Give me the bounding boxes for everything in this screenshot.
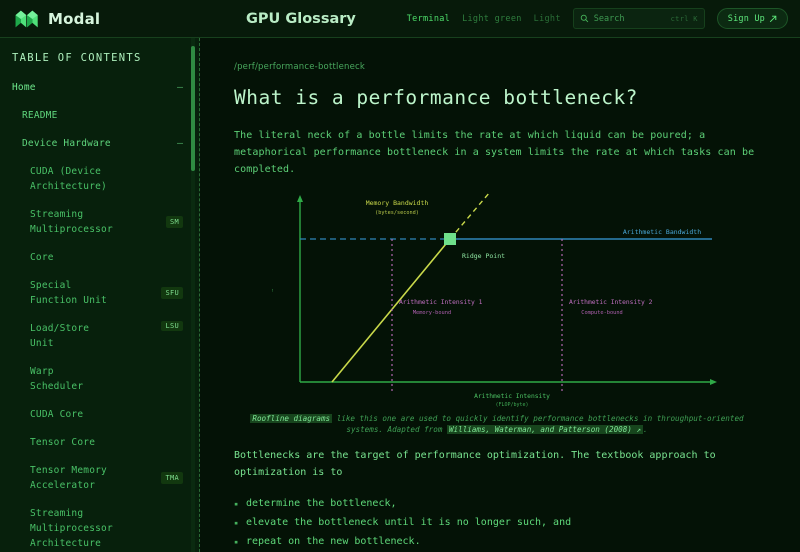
- x-axis-arrow: [710, 379, 717, 385]
- sidebar-item-label: CUDA Core: [0, 407, 83, 422]
- nav-link-light-green[interactable]: Light green: [462, 14, 522, 24]
- search-shortcut: ctrl K: [671, 15, 698, 23]
- caption-citation-link[interactable]: Williams, Waterman, and Patterson (2008)…: [447, 425, 643, 434]
- roofline-diagram: Memory Bandwidth (bytes/second) Arithmet…: [272, 192, 722, 407]
- intro-paragraph: The literal neck of a bottle limits the …: [234, 127, 760, 178]
- breadcrumb: /perf/performance-bottleneck: [234, 62, 760, 72]
- arrow-up-right-icon: [769, 15, 777, 23]
- arithmetic-bandwidth-label: Arithmetic Bandwidth: [623, 228, 701, 236]
- search-input[interactable]: Search ctrl K: [573, 8, 705, 29]
- sidebar-item-label: Home: [0, 80, 36, 95]
- nav-link-terminal[interactable]: Terminal: [407, 14, 450, 24]
- body-paragraph: Bottlenecks are the target of performanc…: [234, 447, 760, 481]
- sidebar-item-label: CUDA (Device Architecture): [0, 164, 108, 194]
- caption-highlight: Roofline diagrams: [250, 414, 332, 423]
- arithmetic-intensity-1-sublabel: Memory-bound: [413, 310, 451, 316]
- sign-up-button[interactable]: Sign Up: [717, 8, 788, 29]
- sidebar-item-streaming-multiprocessor[interactable]: Streaming Multiprocessor SM: [0, 205, 199, 239]
- sidebar-item-label: Warp Scheduler: [0, 364, 108, 394]
- sidebar-item-cuda-core[interactable]: CUDA Core: [0, 405, 199, 424]
- sidebar-item-label: Streaming Multiprocessor: [0, 207, 108, 237]
- memory-bandwidth-units: (bytes/second): [375, 210, 419, 216]
- sign-up-label: Sign Up: [728, 14, 765, 24]
- modal-logo-icon: [14, 9, 40, 29]
- roofline-figure: Memory Bandwidth (bytes/second) Arithmet…: [234, 192, 760, 435]
- collapse-toggle-icon[interactable]: –: [177, 80, 183, 95]
- sidebar-item-tensor-core[interactable]: Tensor Core: [0, 433, 199, 452]
- search-icon: [580, 14, 589, 23]
- main-content: /perf/performance-bottleneck What is a p…: [200, 38, 800, 552]
- search-placeholder: Search: [594, 14, 666, 24]
- optimization-steps-list: determine the bottleneck, elevate the bo…: [234, 494, 760, 551]
- site-title: GPU Glossary: [246, 11, 356, 27]
- collapse-toggle-icon[interactable]: –: [177, 136, 183, 151]
- header-nav: Terminal Light green Light Search ctrl K…: [407, 8, 788, 29]
- page-title: What is a performance bottleneck?: [234, 86, 760, 109]
- sidebar-badge-sm: SM: [166, 216, 183, 228]
- sidebar-item-warp-scheduler[interactable]: Warp Scheduler: [0, 362, 199, 396]
- sidebar-item-device-hardware[interactable]: Device Hardware –: [0, 134, 199, 153]
- list-item: elevate the bottleneck until it is no lo…: [234, 513, 760, 532]
- sidebar-title: TABLE OF CONTENTS: [12, 52, 199, 64]
- sidebar-item-load-store-unit[interactable]: Load/Store Unit LSU: [0, 319, 199, 353]
- nav-link-light[interactable]: Light: [534, 14, 561, 24]
- ridge-point-marker: [444, 233, 456, 245]
- sidebar-item-label: Load/Store Unit: [0, 321, 108, 351]
- sidebar-item-label: README: [0, 108, 58, 123]
- caption-text-2: .: [643, 425, 648, 434]
- sidebar-item-label: Device Hardware: [0, 136, 111, 151]
- arithmetic-intensity-2-label: Arithmetic Intensity 2: [569, 299, 653, 306]
- ridge-point-label: Ridge Point: [462, 252, 505, 260]
- arithmetic-intensity-1-label: Arithmetic Intensity 1: [399, 299, 483, 306]
- figure-caption: Roofline diagrams like this one are used…: [234, 413, 760, 435]
- sidebar-item-label: Streaming Multiprocessor Architecture: [0, 506, 108, 551]
- list-item: repeat on the new bottleneck.: [234, 532, 760, 551]
- sidebar-item-readme[interactable]: README: [0, 106, 199, 125]
- y-axis-label: Performance: [272, 287, 273, 294]
- sidebar-item-core[interactable]: Core: [0, 248, 199, 267]
- sidebar-item-tensor-memory-accelerator[interactable]: Tensor Memory Accelerator TMA: [0, 461, 199, 495]
- x-axis-label: Arithmetic Intensity: [474, 393, 550, 400]
- memory-bandwidth-extension: [450, 192, 490, 239]
- y-axis-units: (FLOPs/second): [272, 297, 273, 303]
- sidebar-item-label: Tensor Core: [0, 435, 95, 450]
- y-axis-arrow: [297, 195, 303, 202]
- sidebar-item-special-function-unit[interactable]: Special Function Unit SFU: [0, 276, 199, 310]
- sidebar-item-home[interactable]: Home –: [0, 78, 199, 97]
- sidebar: TABLE OF CONTENTS Home – README Device H…: [0, 38, 200, 552]
- list-item: determine the bottleneck,: [234, 494, 760, 513]
- brand[interactable]: Modal: [14, 9, 204, 29]
- sidebar-item-label: Special Function Unit: [0, 278, 108, 308]
- memory-bandwidth-label: Memory Bandwidth: [366, 199, 429, 207]
- sidebar-scrollbar-thumb[interactable]: [191, 46, 195, 171]
- sidebar-item-streaming-multiprocessor-architecture[interactable]: Streaming Multiprocessor Architecture: [0, 504, 199, 552]
- brand-name: Modal: [48, 10, 100, 28]
- top-header: Modal GPU Glossary Terminal Light green …: [0, 0, 800, 38]
- sidebar-item-label: Tensor Memory Accelerator: [0, 463, 108, 493]
- x-axis-units: (FLOP/byte): [495, 402, 528, 407]
- sidebar-item-label: Core: [0, 250, 54, 265]
- sidebar-item-cuda-device-architecture[interactable]: CUDA (Device Architecture): [0, 162, 199, 196]
- sidebar-badge-lsu: LSU: [161, 321, 183, 331]
- arithmetic-intensity-2-sublabel: Compute-bound: [581, 310, 622, 316]
- sidebar-badge-tma: TMA: [161, 472, 183, 484]
- sidebar-badge-sfu: SFU: [161, 287, 183, 299]
